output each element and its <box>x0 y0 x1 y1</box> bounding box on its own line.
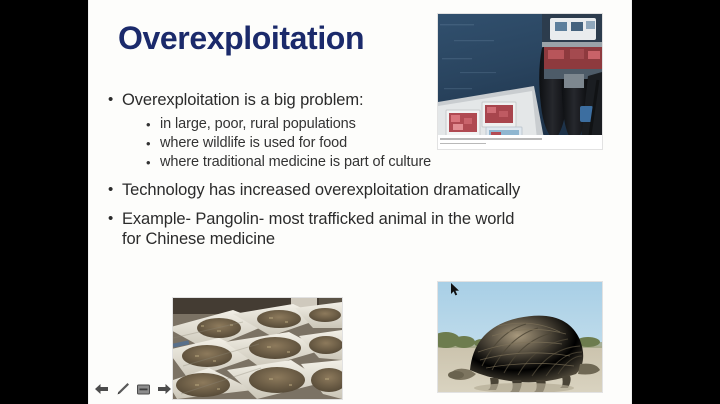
bullet-level1: • Technology has increased overexploitat… <box>102 180 532 200</box>
bullet-text: in large, poor, rural populations <box>160 116 356 132</box>
presentation-slide: Overexploitation • Overexploitation is a… <box>88 0 632 404</box>
pen-icon[interactable] <box>115 382 130 396</box>
slide-menu-icon[interactable] <box>136 382 151 396</box>
bullet-glyph: • <box>108 209 113 229</box>
bullet-glyph: • <box>146 115 150 134</box>
mouse-cursor <box>451 283 460 296</box>
bullet-glyph: • <box>108 180 113 200</box>
bullet-level1: • Example- Pangolin- most trafficked ani… <box>102 209 532 249</box>
bullet-text: Example- Pangolin- most trafficked anima… <box>122 210 514 248</box>
bullet-glyph: • <box>108 90 113 110</box>
bullet-text: Technology has increased overexploitatio… <box>122 181 520 199</box>
slide-title: Overexploitation <box>118 20 364 57</box>
bullet-text: where wildlife is used for food <box>160 135 347 151</box>
bullet-glyph: • <box>146 153 150 172</box>
bullet-level2: • where traditional medicine is part of … <box>102 153 532 172</box>
fishing-boat-photo <box>437 13 603 150</box>
bullet-text: Overexploitation is a big problem: <box>122 91 363 109</box>
video-player-viewer: Overexploitation • Overexploitation is a… <box>0 0 720 404</box>
left-arrow-icon[interactable] <box>94 382 109 396</box>
letterbox-bar-right <box>632 0 720 404</box>
pangolin-photo <box>437 281 603 393</box>
slide-navigation-controls[interactable] <box>94 382 172 396</box>
photo-caption-illegible <box>438 135 602 149</box>
right-arrow-icon[interactable] <box>157 382 172 396</box>
bullet-text: where traditional medicine is part of cu… <box>160 154 431 170</box>
pangolin-scales-sacks-photo <box>172 297 343 400</box>
letterbox-bar-left <box>0 0 88 404</box>
bullet-glyph: • <box>146 134 150 153</box>
